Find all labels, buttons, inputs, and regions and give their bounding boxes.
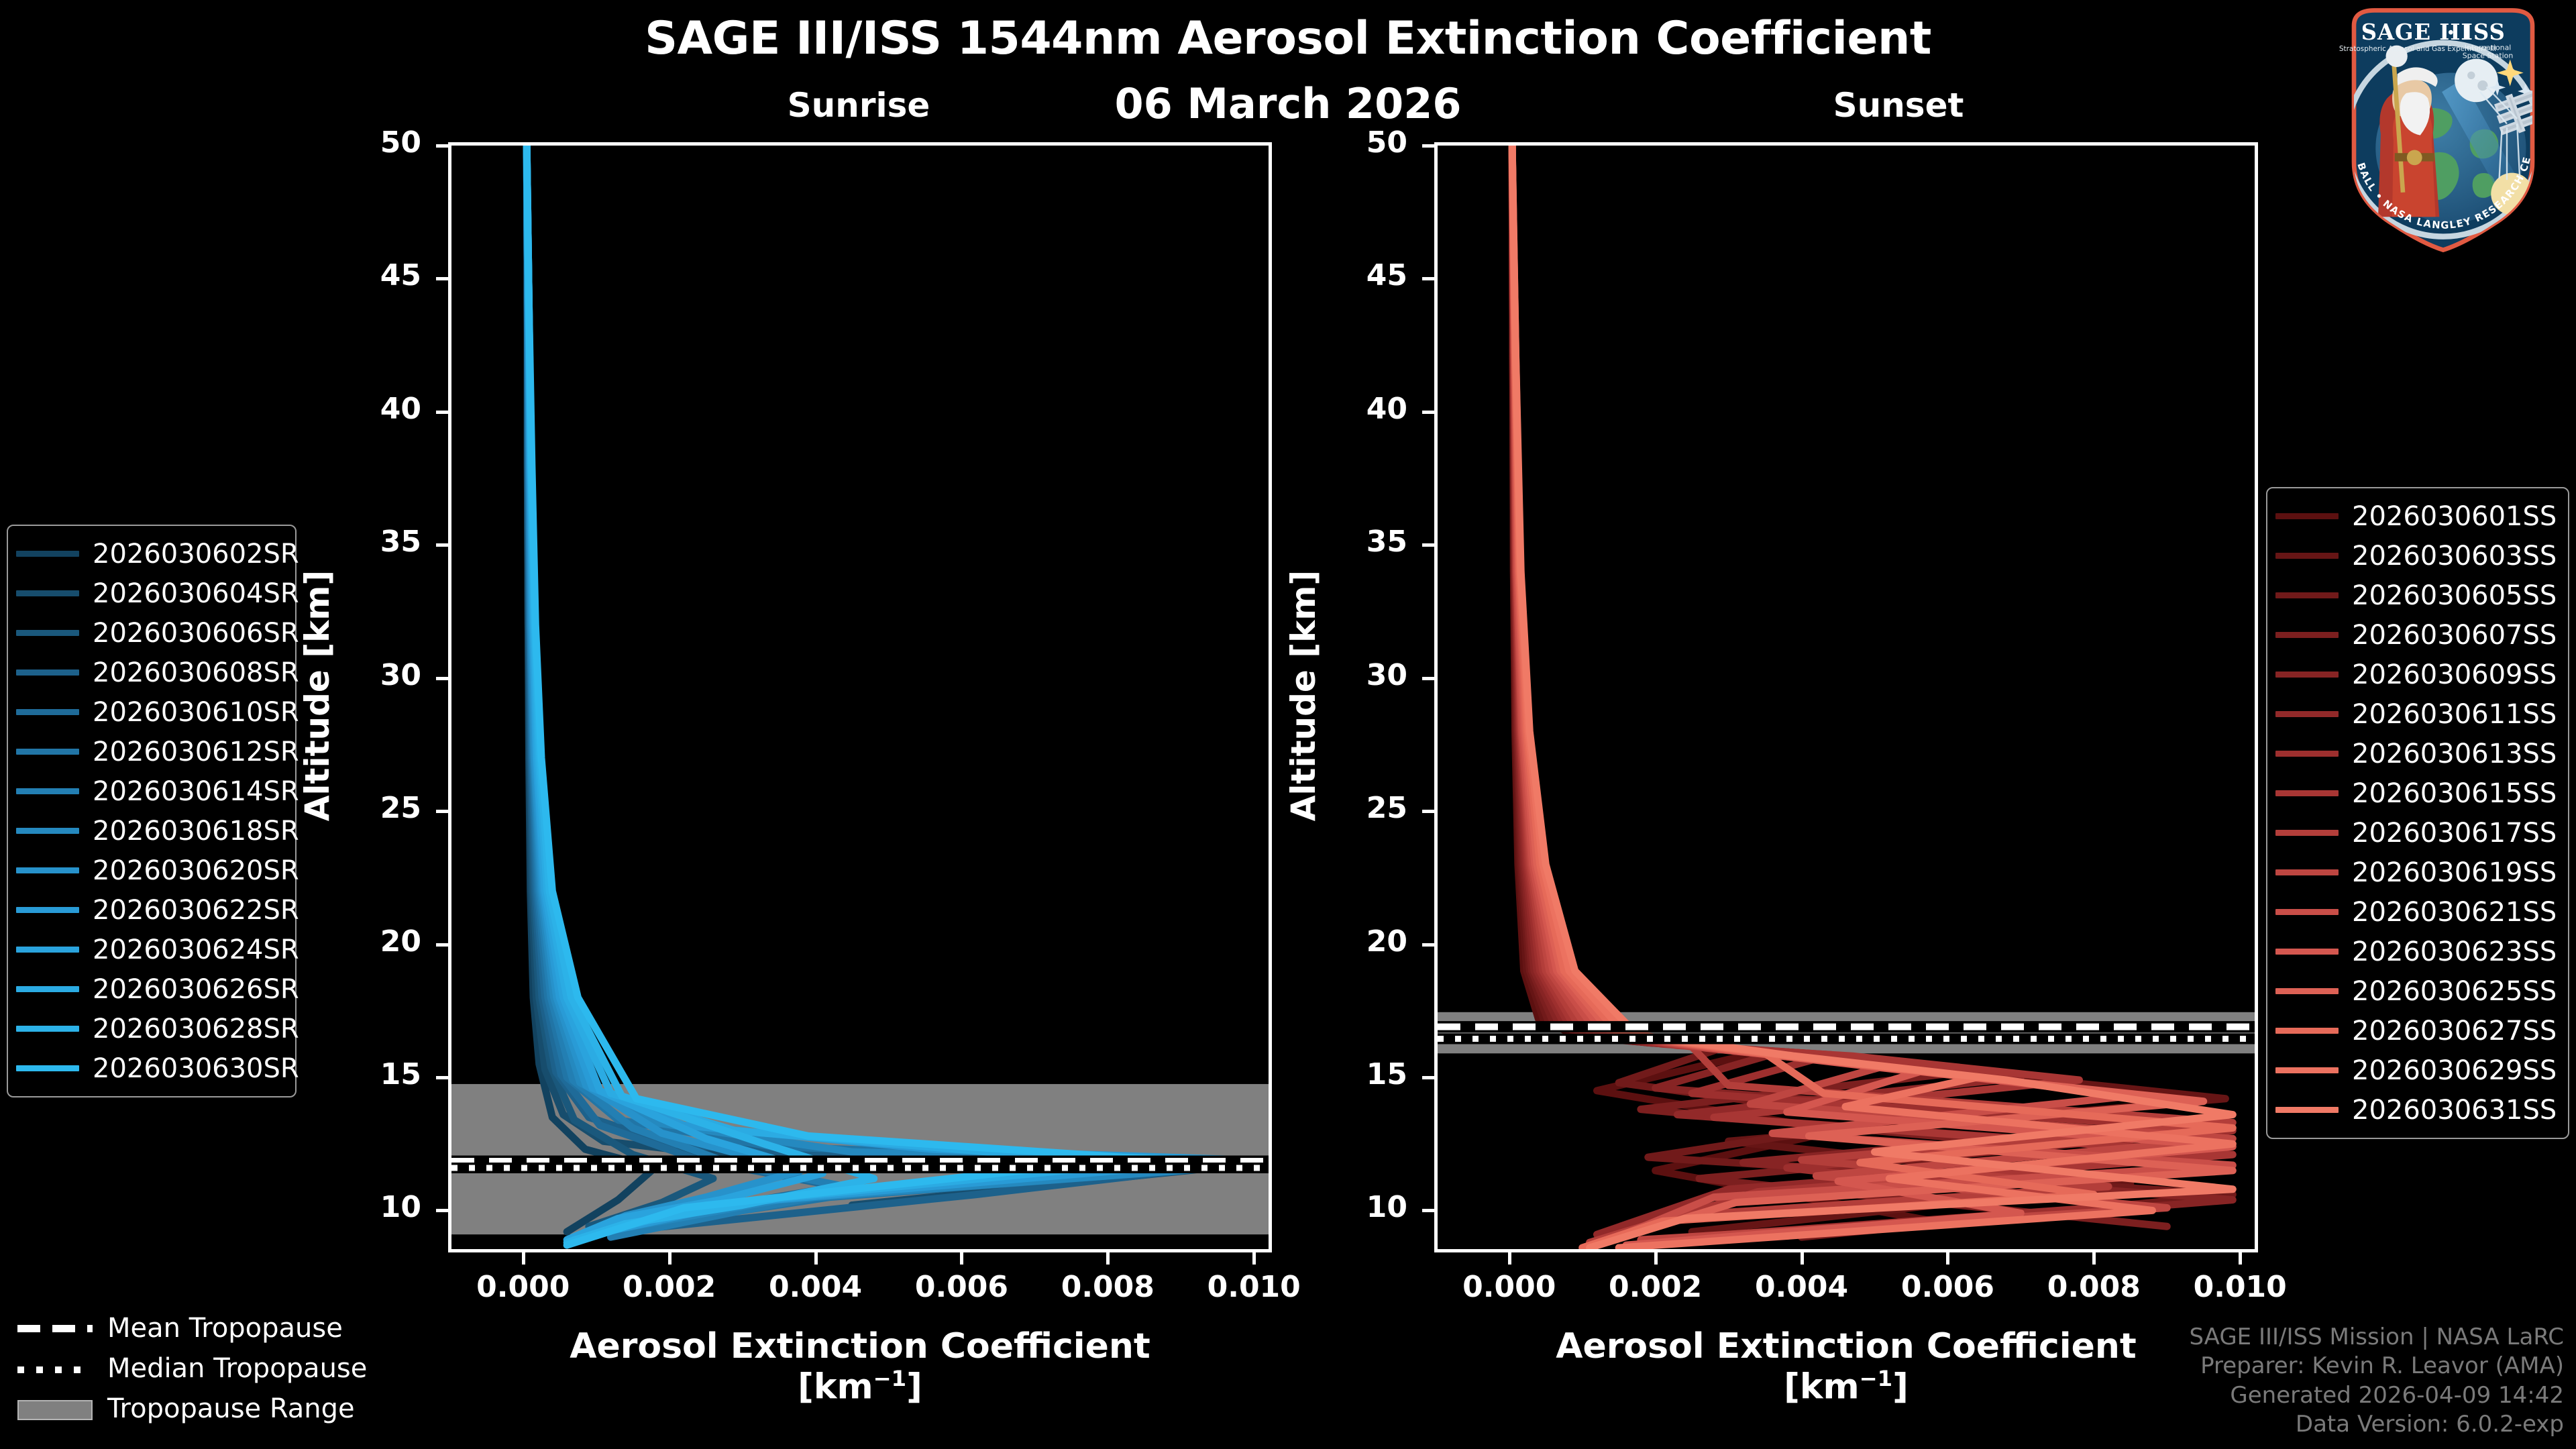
legend-item[interactable]: 2026030630SR <box>16 1049 284 1088</box>
legend-item[interactable]: 2026030604SR <box>16 574 284 613</box>
legend-item-label: 2026030626SR <box>93 974 299 1005</box>
y-tick-label: 25 <box>341 791 421 825</box>
legend-item-label: 2026030618SR <box>93 816 299 847</box>
svg-text:Space Station: Space Station <box>2463 52 2513 60</box>
filled-band-icon <box>17 1400 93 1417</box>
legend-color-swatch <box>16 828 79 834</box>
legend-sunset[interactable]: 2026030601SS2026030603SS2026030605SS2026… <box>2266 487 2569 1139</box>
legend-item[interactable]: 2026030609SS <box>2275 655 2557 694</box>
legend-color-swatch <box>2275 909 2339 915</box>
legend-item[interactable]: 2026030618SR <box>16 811 284 851</box>
y-tick-label: 50 <box>1327 125 1407 160</box>
legend-color-swatch <box>16 986 79 992</box>
series-line <box>527 146 1239 1229</box>
legend-item-mean-tropopause: Mean Tropopause <box>17 1308 433 1348</box>
svg-text:ISS: ISS <box>2463 19 2506 45</box>
legend-item-tropopause-range: Tropopause Range <box>17 1389 433 1429</box>
legend-item-label: 2026030623SS <box>2352 936 2557 967</box>
y-tick-label: 30 <box>1327 658 1407 692</box>
y-axis-title: Altitude [km] <box>1284 521 1323 870</box>
y-tick-mark <box>436 1209 448 1212</box>
legend-color-swatch <box>16 669 79 676</box>
legend-item[interactable]: 2026030611SS <box>2275 694 2557 734</box>
page-title: SAGE III/ISS 1544nm Aerosol Extinction C… <box>0 12 2576 65</box>
x-tick-label: 0.008 <box>1034 1270 1181 1304</box>
y-tick-label: 10 <box>341 1190 421 1224</box>
legend-item[interactable]: 2026030629SS <box>2275 1051 2557 1090</box>
legend-color-swatch <box>16 590 79 596</box>
legend-color-swatch <box>16 867 79 873</box>
legend-item[interactable]: 2026030615SS <box>2275 773 2557 813</box>
legend-item[interactable]: 2026030617SS <box>2275 813 2557 853</box>
legend-label-median-tropopause: Median Tropopause <box>107 1353 367 1384</box>
legend-color-swatch <box>2275 869 2339 875</box>
x-tick-label: 0.000 <box>1436 1270 1583 1304</box>
legend-color-swatch <box>16 749 79 755</box>
series-line <box>527 146 1246 1245</box>
y-tick-label: 25 <box>1327 791 1407 825</box>
y-axis-title: Altitude [km] <box>298 521 337 870</box>
x-tick-label: 0.002 <box>596 1270 743 1304</box>
legend-color-swatch <box>2275 790 2339 796</box>
legend-color-swatch <box>2275 632 2339 638</box>
plot-area-sunrise <box>448 142 1272 1252</box>
legend-sunrise[interactable]: 2026030602SR2026030604SR2026030606SR2026… <box>7 525 297 1097</box>
series-line <box>1512 146 2233 1237</box>
x-axis-unit: [km−1] <box>368 1366 1352 1407</box>
legend-item-label: 2026030611SS <box>2352 699 2557 730</box>
y-tick-mark <box>1422 943 1434 947</box>
credit-preparer: Preparer: Kevin R. Leavor (AMA) <box>2189 1352 2564 1381</box>
legend-item-label: 2026030619SS <box>2352 857 2557 888</box>
series-line <box>1512 146 2233 1237</box>
y-tick-mark <box>1422 277 1434 280</box>
legend-item-label: 2026030613SS <box>2352 739 2557 769</box>
sunrise-series-canvas <box>451 146 1269 1249</box>
y-tick-mark <box>436 277 448 280</box>
legend-item[interactable]: 2026030606SR <box>16 613 284 653</box>
series-line <box>1512 146 2233 1242</box>
x-tick-label: 0.002 <box>1582 1270 1729 1304</box>
y-tick-mark <box>1422 543 1434 547</box>
x-tick-mark <box>960 1252 963 1265</box>
x-tick-mark <box>1106 1252 1110 1265</box>
legend-item-label: 2026030608SR <box>93 657 299 688</box>
y-tick-label: 10 <box>1327 1190 1407 1224</box>
legend-color-swatch <box>16 709 79 715</box>
legend-item-label: 2026030624SR <box>93 934 299 965</box>
legend-color-swatch <box>16 551 79 557</box>
y-tick-label: 35 <box>341 525 421 559</box>
legend-item-label: 2026030629SS <box>2352 1055 2557 1086</box>
legend-color-swatch <box>16 947 79 953</box>
credit-generated: Generated 2026-04-09 14:42 <box>2189 1381 2564 1411</box>
legend-item[interactable]: 2026030623SS <box>2275 932 2557 971</box>
svg-text:•: • <box>2447 25 2455 42</box>
legend-item[interactable]: 2026030610SR <box>16 692 284 732</box>
legend-color-swatch <box>16 788 79 794</box>
dashed-line-icon <box>17 1320 93 1337</box>
x-tick-label: 0.010 <box>2166 1270 2314 1304</box>
legend-item[interactable]: 2026030619SS <box>2275 853 2557 892</box>
legend-item[interactable]: 2026030612SR <box>16 732 284 771</box>
dotted-line-icon <box>17 1360 93 1377</box>
x-tick-label: 0.010 <box>1180 1270 1328 1304</box>
legend-color-swatch <box>2275 1107 2339 1113</box>
legend-label-mean-tropopause: Mean Tropopause <box>107 1313 343 1344</box>
sage-iii-iss-mission-patch-logo: SAGE III • ISS Stratospheric Aerosol and… <box>2316 3 2571 258</box>
y-tick-label: 15 <box>341 1057 421 1091</box>
series-line <box>1512 146 2233 1240</box>
legend-label-tropopause-range: Tropopause Range <box>107 1393 355 1424</box>
credits-block: SAGE III/ISS Mission | NASA LaRC Prepare… <box>2189 1323 2564 1440</box>
legend-item-label: 2026030609SS <box>2352 659 2557 690</box>
series-line <box>527 146 1246 1237</box>
y-tick-mark <box>436 943 448 947</box>
legend-item[interactable]: 2026030602SR <box>16 534 284 574</box>
sunset-series-canvas <box>1438 146 2255 1249</box>
y-tick-label: 35 <box>1327 525 1407 559</box>
legend-item[interactable]: 2026030607SS <box>2275 615 2557 655</box>
legend-color-swatch <box>16 630 79 636</box>
legend-item[interactable]: 2026030624SR <box>16 930 284 969</box>
series-line <box>527 146 1239 1234</box>
legend-item[interactable]: 2026030625SS <box>2275 971 2557 1011</box>
y-tick-mark <box>436 411 448 414</box>
legend-color-swatch <box>2275 672 2339 678</box>
legend-tropopause: Mean Tropopause Median Tropopause Tropop… <box>17 1308 433 1429</box>
panel-title-sunset: Sunset <box>1563 86 2234 125</box>
x-tick-label: 0.004 <box>742 1270 890 1304</box>
legend-item[interactable]: 2026030601SS <box>2275 496 2557 536</box>
x-axis-title-text: Aerosol Extinction Coefficient <box>1556 1326 2137 1366</box>
legend-color-swatch <box>2275 592 2339 598</box>
legend-item-label: 2026030612SR <box>93 737 299 767</box>
legend-item[interactable]: 2026030613SS <box>2275 734 2557 773</box>
x-axis-title-text: Aerosol Extinction Coefficient <box>570 1326 1150 1366</box>
legend-item-label: 2026030620SR <box>93 855 299 886</box>
legend-color-swatch <box>2275 1067 2339 1073</box>
legend-item-label: 2026030601SS <box>2352 501 2557 532</box>
legend-item[interactable]: 2026030603SS <box>2275 536 2557 576</box>
legend-item[interactable]: 2026030621SS <box>2275 892 2557 932</box>
legend-item-label: 2026030605SS <box>2352 580 2557 611</box>
y-tick-mark <box>1422 411 1434 414</box>
legend-item[interactable]: 2026030608SR <box>16 653 284 692</box>
x-tick-label: 0.004 <box>1728 1270 1876 1304</box>
legend-item-label: 2026030622SR <box>93 895 299 926</box>
series-line <box>527 146 1246 1232</box>
legend-color-swatch <box>2275 553 2339 559</box>
legend-color-swatch <box>2275 1028 2339 1034</box>
x-tick-label: 0.006 <box>888 1270 1035 1304</box>
y-tick-label: 50 <box>341 125 421 160</box>
y-tick-label: 20 <box>1327 924 1407 959</box>
figure-canvas: SAGE III/ISS 1544nm Aerosol Extinction C… <box>0 0 2576 1449</box>
y-tick-label: 45 <box>1327 258 1407 292</box>
legend-item-label: 2026030603SS <box>2352 541 2557 572</box>
x-tick-mark <box>1801 1252 1804 1265</box>
legend-color-swatch <box>2275 949 2339 955</box>
y-tick-label: 45 <box>341 258 421 292</box>
x-tick-label: 0.000 <box>449 1270 597 1304</box>
legend-item-label: 2026030607SS <box>2352 620 2557 651</box>
legend-item[interactable]: 2026030631SS <box>2275 1090 2557 1130</box>
y-tick-label: 40 <box>1327 392 1407 426</box>
legend-item-label: 2026030610SR <box>93 697 299 728</box>
y-tick-mark <box>436 1076 448 1079</box>
x-tick-mark <box>522 1252 525 1265</box>
series-line <box>527 146 1246 1240</box>
legend-item[interactable]: 2026030622SR <box>16 890 284 930</box>
legend-color-swatch <box>16 1065 79 1071</box>
x-axis-title: Aerosol Extinction Coefficient[km−1] <box>368 1326 1352 1407</box>
y-tick-mark <box>1422 677 1434 680</box>
plot-area-sunset <box>1434 142 2258 1252</box>
legend-color-swatch <box>16 907 79 913</box>
series-line <box>1512 146 2233 1237</box>
legend-item-label: 2026030615SS <box>2352 778 2557 809</box>
x-tick-mark <box>1946 1252 1949 1265</box>
y-tick-mark <box>436 543 448 547</box>
legend-item-label: 2026030606SR <box>93 618 299 649</box>
y-tick-mark <box>1422 1209 1434 1212</box>
credit-mission: SAGE III/ISS Mission | NASA LaRC <box>2189 1323 2564 1352</box>
credit-data-version: Data Version: 6.0.2-exp <box>2189 1410 2564 1440</box>
legend-item[interactable]: 2026030620SR <box>16 851 284 890</box>
series-line <box>527 146 1239 1205</box>
series-line <box>1512 146 2233 1240</box>
y-tick-mark <box>436 677 448 680</box>
legend-item-label: 2026030621SS <box>2352 897 2557 928</box>
y-tick-label: 30 <box>341 658 421 692</box>
legend-color-swatch <box>16 1026 79 1032</box>
legend-item-label: 2026030604SR <box>93 578 299 609</box>
legend-item[interactable]: 2026030605SS <box>2275 576 2557 615</box>
y-tick-mark <box>1422 1076 1434 1079</box>
x-tick-mark <box>1654 1252 1658 1265</box>
legend-item[interactable]: 2026030628SR <box>16 1009 284 1049</box>
y-tick-label: 15 <box>1327 1057 1407 1091</box>
x-tick-label: 0.006 <box>1874 1270 2021 1304</box>
legend-item[interactable]: 2026030614SR <box>16 771 284 811</box>
legend-color-swatch <box>2275 751 2339 757</box>
x-tick-mark <box>814 1252 818 1265</box>
x-tick-label: 0.008 <box>2020 1270 2167 1304</box>
legend-item-label: 2026030602SR <box>93 539 299 570</box>
legend-color-swatch <box>2275 711 2339 717</box>
legend-item-label: 2026030625SS <box>2352 976 2557 1007</box>
legend-color-swatch <box>2275 513 2339 519</box>
legend-item-label: 2026030630SR <box>93 1053 299 1084</box>
legend-item-label: 2026030617SS <box>2352 818 2557 849</box>
legend-item-median-tropopause: Median Tropopause <box>17 1348 433 1389</box>
y-tick-label: 40 <box>341 392 421 426</box>
legend-color-swatch <box>2275 830 2339 836</box>
legend-item[interactable]: 2026030626SR <box>16 969 284 1009</box>
legend-color-swatch <box>2275 988 2339 994</box>
legend-item-label: 2026030614SR <box>93 776 299 807</box>
x-tick-mark <box>2092 1252 2096 1265</box>
y-tick-label: 20 <box>341 924 421 959</box>
panel-title-sunrise: Sunrise <box>604 86 1114 125</box>
legend-item[interactable]: 2026030627SS <box>2275 1011 2557 1051</box>
y-tick-mark <box>436 144 448 148</box>
svg-text:International: International <box>2465 43 2512 52</box>
x-tick-mark <box>1508 1252 1511 1265</box>
legend-item-label: 2026030627SS <box>2352 1016 2557 1046</box>
legend-item-label: 2026030631SS <box>2352 1095 2557 1126</box>
series-line <box>1512 146 2233 1242</box>
x-tick-mark <box>1252 1252 1256 1265</box>
x-tick-mark <box>668 1252 672 1265</box>
legend-item-label: 2026030628SR <box>93 1014 299 1044</box>
y-tick-mark <box>1422 144 1434 148</box>
x-tick-mark <box>2239 1252 2242 1265</box>
y-tick-mark <box>436 810 448 813</box>
y-tick-mark <box>1422 810 1434 813</box>
